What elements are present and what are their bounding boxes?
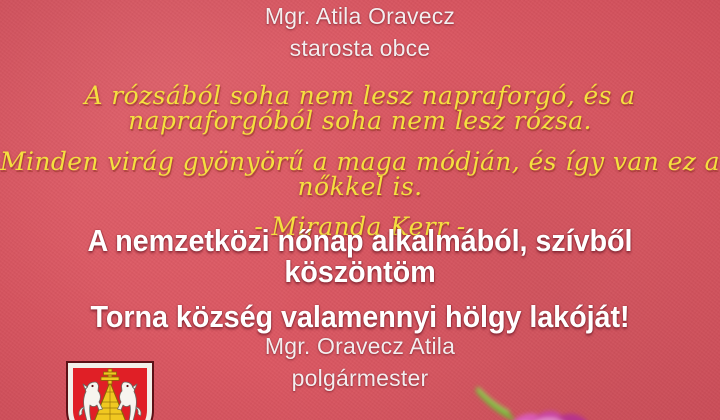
top-signature-name: Mgr. Atila Oravecz bbox=[265, 3, 455, 29]
quote-line-2: Minden virág gyönyörű a maga módján, és … bbox=[0, 149, 720, 199]
coat-of-arms-icon bbox=[65, 360, 155, 420]
quote-line-1: A rózsából soha nem lesz napraforgó, és … bbox=[0, 83, 720, 133]
greeting-poster: Mgr. Atila Oravecz starosta obce A rózsá… bbox=[0, 0, 720, 420]
headline-line-1: A nemzetközi nőnap alkalmából, szívből k… bbox=[25, 225, 695, 287]
bottom-signature-name: Mgr. Oravecz Atila bbox=[265, 333, 455, 359]
headline-block: A nemzetközi nőnap alkalmából, szívből k… bbox=[25, 225, 695, 332]
top-signature: Mgr. Atila Oravecz starosta obce bbox=[0, 5, 720, 60]
top-signature-title: starosta obce bbox=[0, 37, 720, 60]
quote-block: A rózsából soha nem lesz napraforgó, és … bbox=[0, 83, 720, 239]
headline-line-2: Torna község valamennyi hölgy lakóját! bbox=[25, 301, 695, 332]
